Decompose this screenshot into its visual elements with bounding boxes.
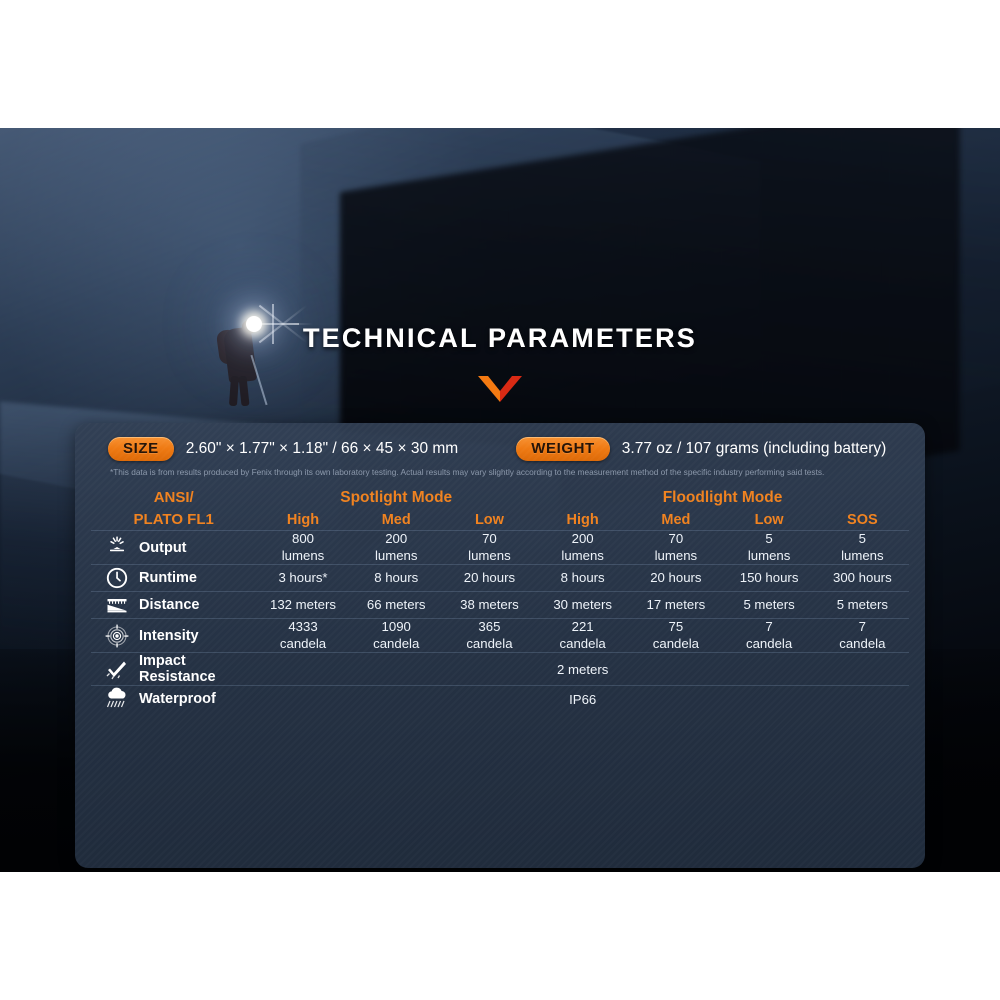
- table-row: Runtime 3 hours* 8 hours 20 hours 8 hour…: [91, 565, 909, 592]
- cell-runtime-spot-med: 8 hours: [350, 565, 443, 592]
- cell-distance-flood-sos: 5 meters: [816, 592, 909, 619]
- cell-output-flood-low: 5lumens: [722, 531, 815, 565]
- row-label-impact-resistance: Impact Resistance: [91, 653, 256, 686]
- weight-group: WEIGHT 3.77 oz / 107 grams (including ba…: [516, 437, 886, 461]
- ansi-plato-corner-label: ANSI/ PLATO FL1: [91, 487, 256, 531]
- specifications-table: ANSI/ PLATO FL1 Spotlight Mode Floodligh…: [91, 487, 909, 713]
- row-label-output: Output: [91, 531, 256, 565]
- cell-output-flood-sos: 5lumens: [816, 531, 909, 565]
- cell-runtime-flood-high: 8 hours: [536, 565, 629, 592]
- target-crosshair-icon: [104, 623, 130, 649]
- row-label-intensity: Intensity: [91, 619, 256, 653]
- size-group: SIZE 2.60" × 1.77" × 1.18" / 66 × 45 × 3…: [108, 437, 458, 461]
- column-floodlight-low: Low: [722, 510, 815, 531]
- clock-icon: [104, 565, 130, 591]
- row-label-text: Waterproof: [139, 691, 216, 707]
- row-label-text: Intensity: [139, 628, 199, 644]
- chevron-down-icon: [478, 376, 522, 407]
- row-label-runtime: Runtime: [91, 565, 256, 592]
- size-badge: SIZE: [108, 437, 174, 461]
- row-label-waterproof: Waterproof: [91, 686, 256, 713]
- cell-impact-resistance-value: 2 meters: [256, 653, 909, 686]
- table-row: Intensity 4333candela 1090candela 365can…: [91, 619, 909, 653]
- cell-output-spot-low: 70lumens: [443, 531, 536, 565]
- title-container: TECHNICAL PARAMETERS: [0, 323, 1000, 354]
- cell-intensity-flood-high: 221candela: [536, 619, 629, 653]
- table-row: Waterproof IP66: [91, 686, 909, 713]
- page-title: TECHNICAL PARAMETERS: [303, 323, 697, 354]
- group-header-floodlight: Floodlight Mode: [536, 487, 909, 510]
- cell-output-flood-med: 70lumens: [629, 531, 722, 565]
- chevron-container: [0, 376, 1000, 407]
- cell-intensity-spot-med: 1090candela: [350, 619, 443, 653]
- cell-output-spot-med: 200lumens: [350, 531, 443, 565]
- row-label-text: Runtime: [139, 570, 197, 586]
- row-label-text: Impact Resistance: [139, 653, 216, 685]
- cell-runtime-flood-med: 20 hours: [629, 565, 722, 592]
- column-spotlight-high: High: [256, 510, 349, 531]
- row-label-text: Distance: [139, 597, 199, 613]
- cell-runtime-spot-low: 20 hours: [443, 565, 536, 592]
- rain-cloud-icon: [104, 686, 130, 712]
- beam-distance-icon: [104, 592, 130, 618]
- spec-panel: SIZE 2.60" × 1.77" × 1.18" / 66 × 45 × 3…: [75, 423, 925, 868]
- cell-intensity-spot-low: 365candela: [443, 619, 536, 653]
- ansi-label-line2: PLATO FL1: [91, 509, 256, 531]
- cell-intensity-spot-high: 4333candela: [256, 619, 349, 653]
- cell-distance-flood-low: 5 meters: [722, 592, 815, 619]
- weight-value: 3.77 oz / 107 grams (including battery): [622, 440, 887, 458]
- table-row: Impact Resistance 2 meters: [91, 653, 909, 686]
- cell-intensity-flood-sos: 7candela: [816, 619, 909, 653]
- hero-image: TECHNICAL PARAMETERS SIZE 2.60" × 1.77" …: [0, 128, 1000, 872]
- size-value: 2.60" × 1.77" × 1.18" / 66 × 45 × 30 mm: [186, 440, 458, 458]
- cell-distance-spot-low: 38 meters: [443, 592, 536, 619]
- group-header-spotlight: Spotlight Mode: [256, 487, 536, 510]
- summary-disclaimer: *This data is from results produced by F…: [110, 468, 900, 478]
- cell-runtime-flood-low: 150 hours: [722, 565, 815, 592]
- cell-runtime-spot-high: 3 hours*: [256, 565, 349, 592]
- cell-distance-spot-high: 132 meters: [256, 592, 349, 619]
- ansi-label-line1: ANSI/: [91, 487, 256, 509]
- cell-output-spot-high: 800lumens: [256, 531, 349, 565]
- cell-distance-flood-med: 17 meters: [629, 592, 722, 619]
- table-group-header-row: ANSI/ PLATO FL1 Spotlight Mode Floodligh…: [91, 487, 909, 510]
- cell-distance-spot-med: 66 meters: [350, 592, 443, 619]
- impact-check-icon: [104, 656, 130, 682]
- weight-badge: WEIGHT: [516, 437, 610, 461]
- summary-badges-row: SIZE 2.60" × 1.77" × 1.18" / 66 × 45 × 3…: [75, 423, 925, 461]
- column-spotlight-low: Low: [443, 510, 536, 531]
- row-label-text: Output: [139, 540, 187, 556]
- column-floodlight-med: Med: [629, 510, 722, 531]
- column-floodlight-sos: SOS: [816, 510, 909, 531]
- column-floodlight-high: High: [536, 510, 629, 531]
- table-row: Output 800lumens 200lumens 70lumens 200l…: [91, 531, 909, 565]
- cell-output-flood-high: 200lumens: [536, 531, 629, 565]
- cell-runtime-flood-sos: 300 hours: [816, 565, 909, 592]
- cell-intensity-flood-low: 7candela: [722, 619, 815, 653]
- sunburst-icon: [104, 535, 130, 561]
- cell-intensity-flood-med: 75candela: [629, 619, 722, 653]
- row-label-distance: Distance: [91, 592, 256, 619]
- cell-waterproof-value: IP66: [256, 686, 909, 713]
- cell-distance-flood-high: 30 meters: [536, 592, 629, 619]
- column-spotlight-med: Med: [350, 510, 443, 531]
- table-row: Distance 132 meters 66 meters 38 meters …: [91, 592, 909, 619]
